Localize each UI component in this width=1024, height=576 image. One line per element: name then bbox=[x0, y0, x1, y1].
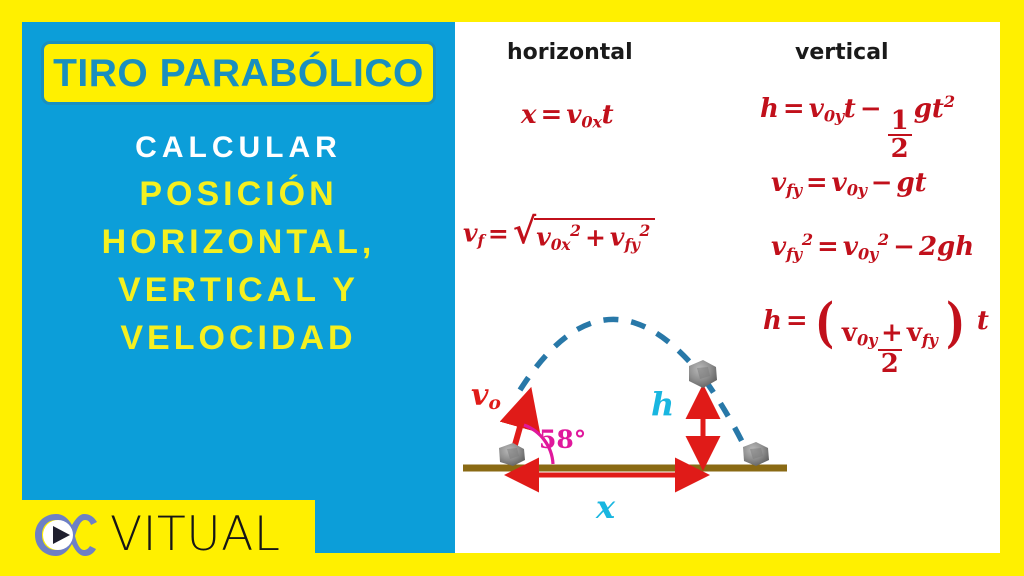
label-launch-angle: 58° bbox=[539, 427, 586, 452]
trajectory-path-descent bbox=[705, 380, 750, 458]
formula-final-vertical-velocity: vfy=v0y−gt bbox=[771, 170, 927, 199]
headline-block: CALCULAR POSICIÓN HORIZONTAL, VERTICAL Y… bbox=[22, 127, 455, 363]
logo-wordmark: VITUAL bbox=[110, 511, 280, 558]
headline-line-5: VELOCIDAD bbox=[22, 314, 455, 362]
left-info-panel: TIRO PARABÓLICO CALCULAR POSICIÓN HORIZO… bbox=[22, 22, 455, 553]
formula-horizontal-position: x=v0xt bbox=[521, 102, 614, 131]
label-height: h bbox=[651, 388, 674, 420]
formula-vertical-height: h=v0yt−12gt2 bbox=[760, 94, 955, 163]
formula-average-velocity-height: h=(v0y+vfy2) t bbox=[763, 308, 989, 377]
rock-icon-apex bbox=[689, 360, 717, 388]
headline-line-2: POSICIÓN bbox=[22, 170, 455, 218]
slide-canvas: TIRO PARABÓLICO CALCULAR POSICIÓN HORIZO… bbox=[0, 0, 1024, 576]
formula-area: horizontal vertical x=v0xt vf=√v0x2+vfy2… bbox=[455, 22, 1000, 553]
diagram-canvas bbox=[455, 262, 795, 553]
brand-logo: VITUAL bbox=[20, 500, 315, 568]
label-initial-velocity: vo bbox=[471, 381, 501, 414]
rock-icon-landing bbox=[743, 442, 769, 466]
label-range: x bbox=[596, 491, 615, 523]
rock-icon-launch bbox=[499, 443, 525, 466]
headline-line-3: HORIZONTAL, bbox=[22, 218, 455, 266]
headline-line-4: VERTICAL Y bbox=[22, 266, 455, 314]
page-title: TIRO PARABÓLICO bbox=[53, 54, 424, 93]
column-heading-horizontal: horizontal bbox=[507, 40, 633, 65]
headline-line-1: CALCULAR bbox=[22, 127, 455, 170]
trajectory-path bbox=[520, 319, 705, 390]
projectile-diagram: vo 58° h x bbox=[455, 262, 795, 553]
formula-velocity-squared: vfy2=v0y2−2gh bbox=[771, 232, 974, 263]
title-box: TIRO PARABÓLICO bbox=[41, 41, 436, 105]
column-heading-vertical: vertical bbox=[795, 40, 889, 65]
alpha-play-icon bbox=[30, 505, 114, 563]
formula-resultant-velocity: vf=√v0x2+vfy2 bbox=[463, 218, 655, 252]
